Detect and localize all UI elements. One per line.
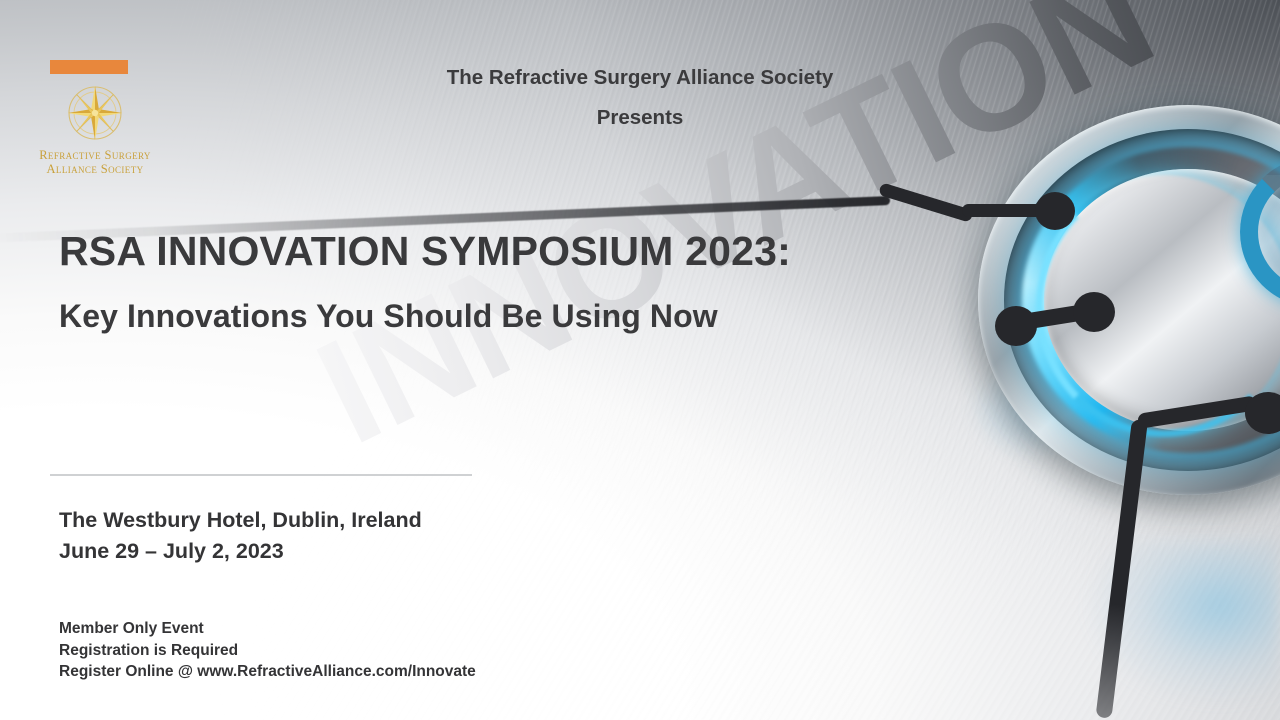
presenter-header: The Refractive Surgery Alliance Society … xyxy=(360,58,920,138)
presenter-line1: The Refractive Surgery Alliance Society xyxy=(360,58,920,98)
logo-text-line1: Refractive Surgery xyxy=(20,148,170,162)
venue-dates: June 29 – July 2, 2023 xyxy=(59,536,422,567)
registration-line1: Member Only Event xyxy=(59,618,476,640)
registration-line2: Registration is Required xyxy=(59,640,476,662)
registration-url-line[interactable]: Register Online @ www.RefractiveAlliance… xyxy=(59,661,476,683)
organization-logo: Refractive Surgery Alliance Society xyxy=(20,60,170,176)
registration-block: Member Only Event Registration is Requir… xyxy=(59,618,476,683)
venue-block: The Westbury Hotel, Dublin, Ireland June… xyxy=(59,505,422,567)
presenter-line2: Presents xyxy=(360,98,920,138)
slide-content: Refractive Surgery Alliance Society The … xyxy=(0,0,1280,720)
venue-location: The Westbury Hotel, Dublin, Ireland xyxy=(59,505,422,536)
slide-title: RSA INNOVATION SYMPOSIUM 2023: xyxy=(59,228,791,275)
horizontal-divider xyxy=(50,474,472,476)
presentation-slide: INNOVATION xyxy=(0,0,1280,720)
slide-subtitle: Key Innovations You Should Be Using Now xyxy=(59,298,718,335)
compass-rose-icon xyxy=(59,80,131,146)
logo-text-line2: Alliance Society xyxy=(20,162,170,176)
logo-orange-bar xyxy=(50,60,128,74)
